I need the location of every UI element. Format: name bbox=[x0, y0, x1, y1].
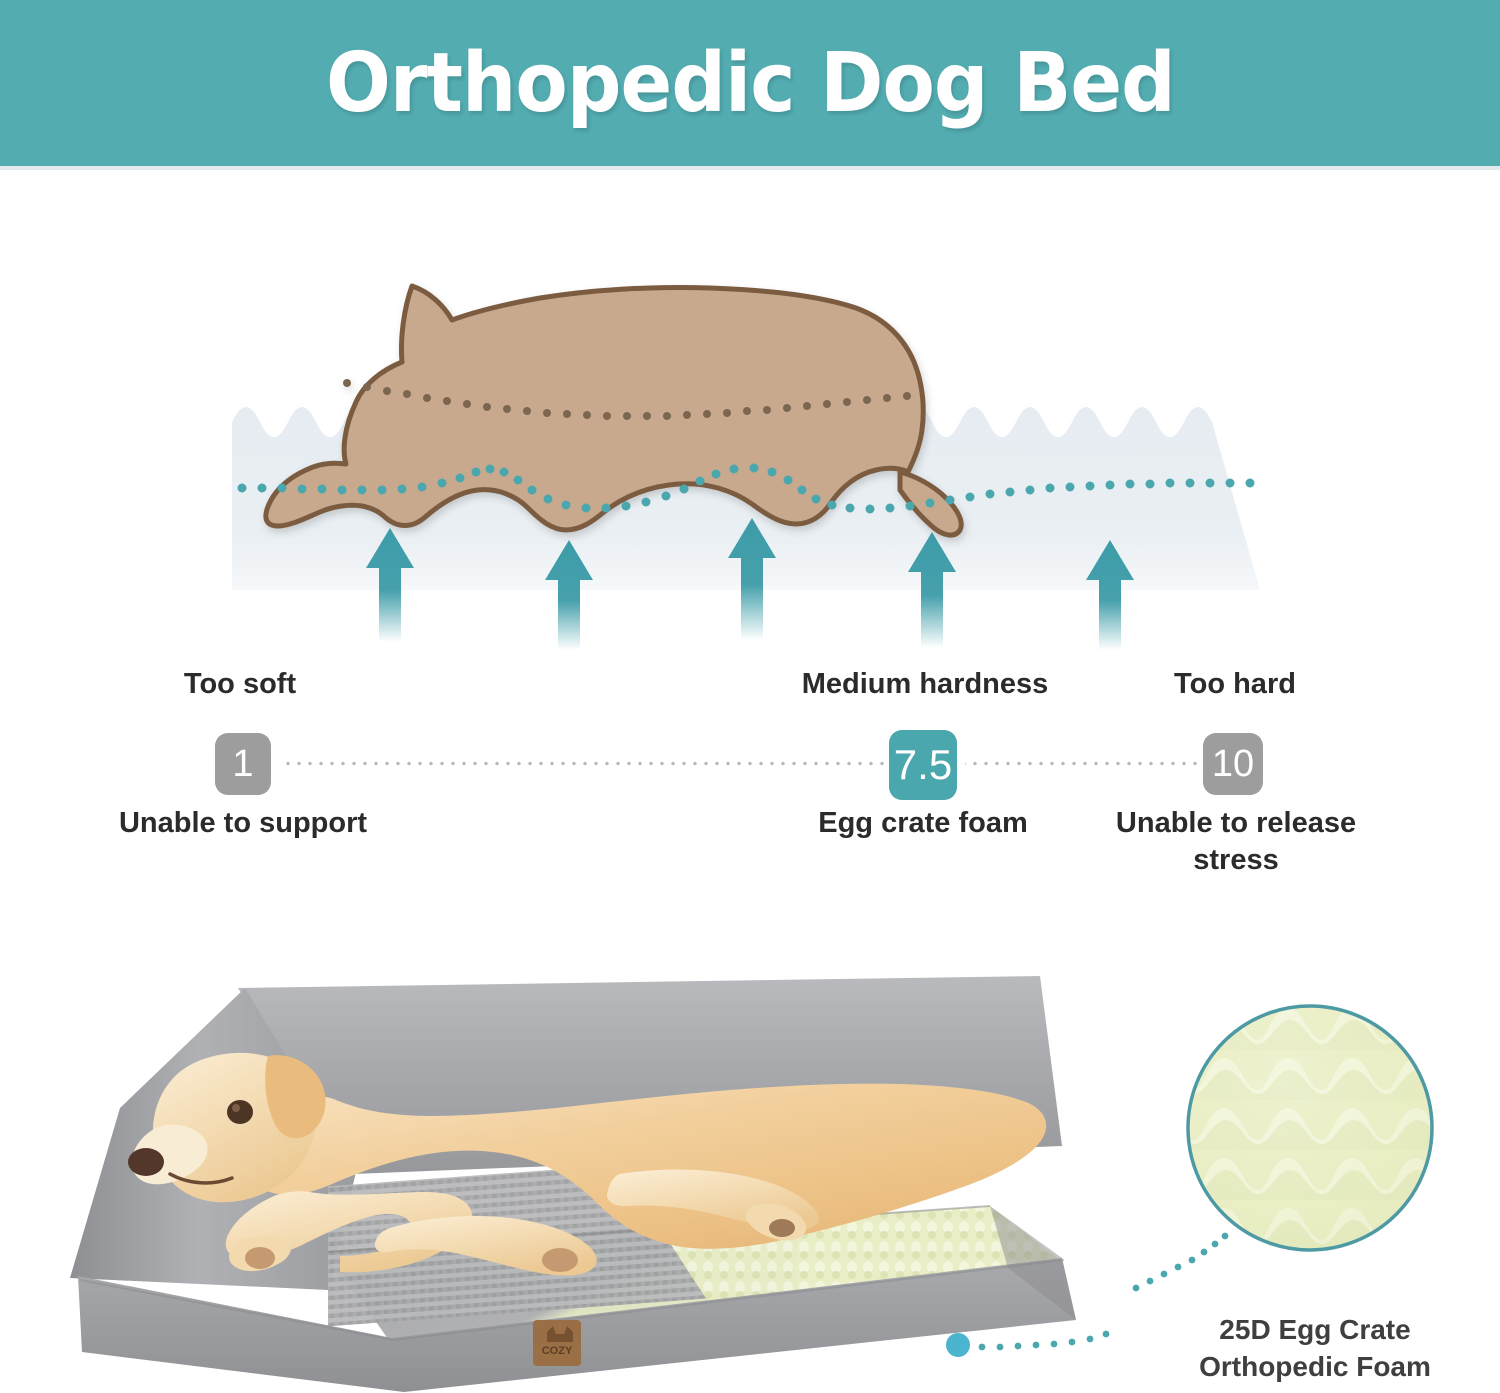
header-banner: Orthopedic Dog Bed bbox=[0, 0, 1500, 166]
scale-dotline-left bbox=[280, 761, 890, 766]
callout-leader-dotted-line bbox=[1133, 1233, 1229, 1292]
scale-top-label-too-hard: Too hard bbox=[1115, 668, 1355, 701]
photo-leader-dotted-line bbox=[979, 1331, 1110, 1351]
callout-caption: 25D Egg Crate Orthopedic Foam bbox=[1130, 1312, 1500, 1386]
product-photo: COZY bbox=[60, 960, 1120, 1393]
scale-badge-7-5[interactable]: 7.5 bbox=[889, 730, 957, 800]
egg-crate-callout: 25D Egg Crate Orthopedic Foam bbox=[1130, 1000, 1500, 1393]
hardness-scale: Too soft 1 Unable to support Medium hard… bbox=[0, 660, 1500, 920]
support-diagram bbox=[0, 250, 1500, 650]
brand-tag: COZY bbox=[533, 1320, 581, 1366]
scale-badge-10[interactable]: 10 bbox=[1203, 733, 1263, 795]
foam-marker-dot bbox=[946, 1333, 970, 1357]
scale-top-label-too-soft: Too soft bbox=[120, 668, 360, 701]
scale-dotline-right bbox=[965, 761, 1205, 766]
callout-caption-line2: Orthopedic Foam bbox=[1130, 1349, 1500, 1386]
callout-caption-line1: 25D Egg Crate bbox=[1130, 1312, 1500, 1349]
scale-badge-1[interactable]: 1 bbox=[215, 733, 271, 795]
svg-text:COZY: COZY bbox=[542, 1345, 573, 1357]
scale-bottom-label-unable-to-release-stress: Unable to release stress bbox=[1090, 805, 1382, 879]
page-title: Orthopedic Dog Bed bbox=[326, 36, 1175, 131]
header-divider bbox=[0, 166, 1500, 170]
foam-closeup-circle bbox=[1186, 1004, 1436, 1254]
scale-bottom-label-egg-crate-foam: Egg crate foam bbox=[743, 805, 1103, 842]
scale-top-label-medium-hardness: Medium hardness bbox=[770, 668, 1080, 701]
scale-bottom-label-unable-to-support: Unable to support bbox=[63, 805, 423, 842]
